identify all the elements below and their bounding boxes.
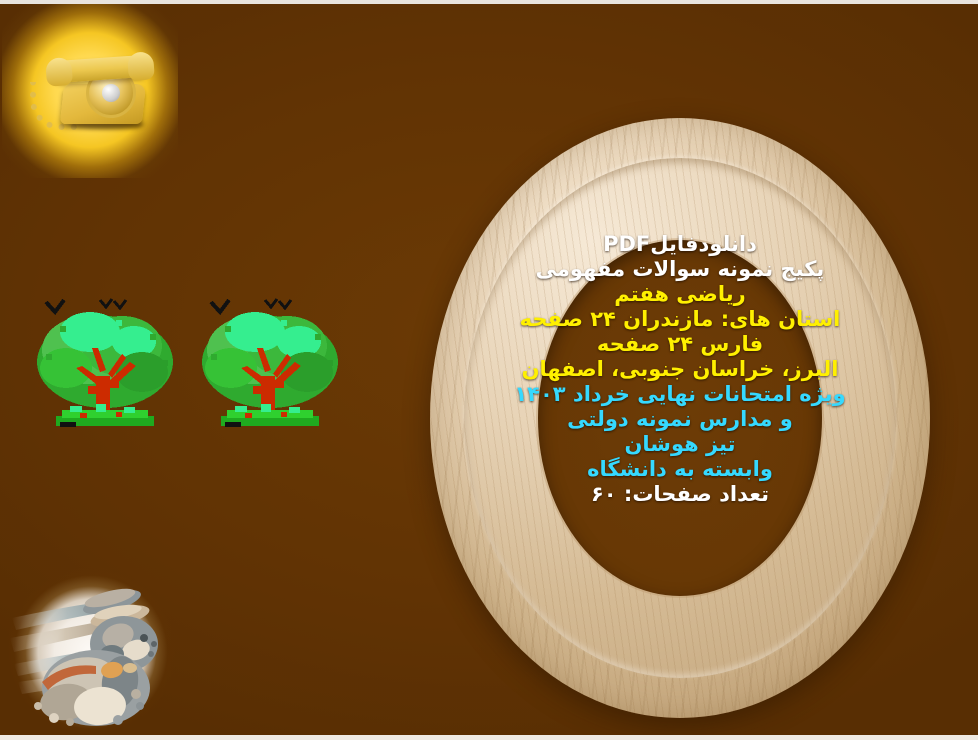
pebble-rabbit-icon — [8, 578, 174, 728]
promo-line-11: تعداد صفحات: ۶۰ — [470, 482, 890, 507]
promo-line-3: ریاضی هفتم — [470, 282, 890, 307]
rotary-telephone-icon — [24, 44, 158, 138]
tree-grass — [56, 404, 154, 427]
tree-art — [30, 280, 180, 440]
telephone-badge — [2, 2, 178, 178]
rabbit-art — [8, 578, 174, 728]
promo-line-5: فارس ۲۴ صفحه — [470, 332, 890, 357]
promo-line-9: تیز هوشان — [470, 432, 890, 457]
promo-text-block: دانلودفایلPDF پکیج نمونه سوالات مفهومی ر… — [470, 232, 890, 507]
pixel-tree-icon — [30, 280, 180, 440]
telephone-handset-icon — [51, 55, 148, 84]
tree-grass — [221, 404, 319, 427]
rabbit-badge — [0, 564, 186, 740]
bottom-edge-strip — [0, 735, 978, 740]
promo-line-10: وابسته به دانشگاه — [470, 457, 890, 482]
promo-line-7: ویژه امتحانات نهایی خرداد ۱۴۰۳ — [470, 382, 890, 407]
promo-line-8: و مدارس نمونه دولتی — [470, 407, 890, 432]
promo-line-2: پکیج نمونه سوالات مفهومی — [470, 257, 890, 282]
promo-line-4: استان های: مازندران ۲۴ صفحه — [470, 307, 890, 332]
birds-icon — [46, 299, 126, 312]
birds-icon — [211, 299, 291, 312]
tree-art — [195, 280, 345, 440]
promo-line-1: دانلودفایلPDF — [470, 232, 890, 257]
pixel-tree-icon — [195, 280, 345, 440]
top-edge-strip — [0, 0, 978, 4]
promo-line-6: البرز، خراسان جنوبی، اصفهان — [470, 357, 890, 382]
poster-canvas: دانلودفایلPDF پکیج نمونه سوالات مفهومی ر… — [0, 0, 978, 740]
